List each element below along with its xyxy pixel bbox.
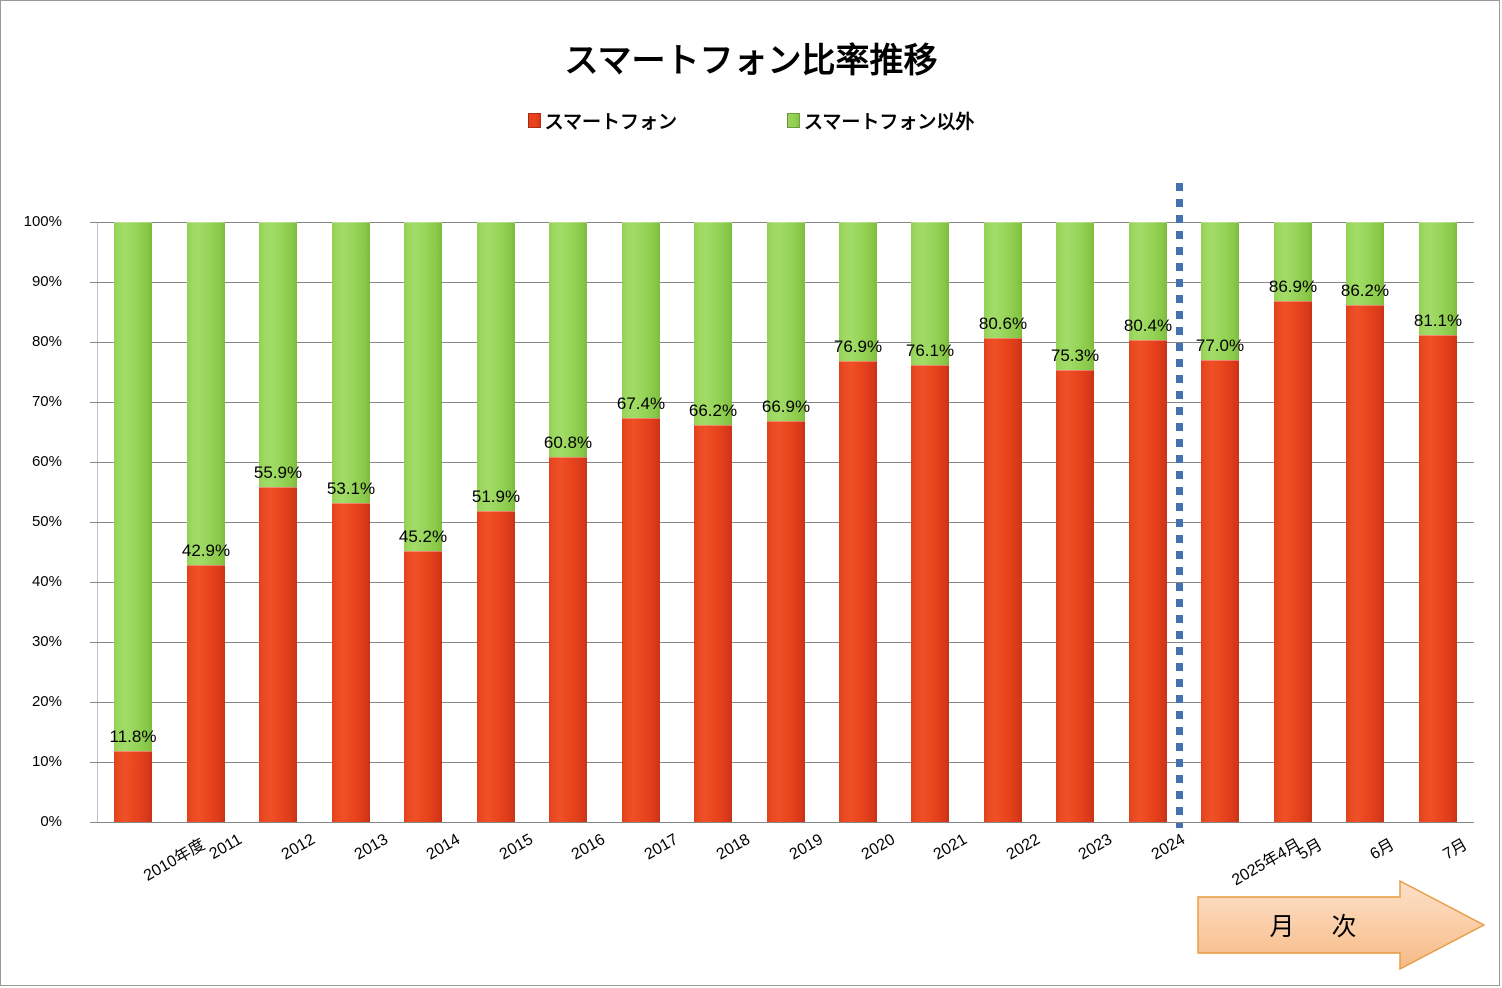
x-axis-tick-label: 2011 — [207, 831, 246, 864]
legend-item-non-smartphone[interactable]: スマートフォン以外 — [787, 107, 974, 134]
x-axis-tick-label: 2023 — [1076, 831, 1116, 864]
y-tick-mark — [90, 402, 97, 403]
y-tick-mark — [90, 342, 97, 343]
y-axis-tick-label: 80% — [2, 333, 62, 350]
x-axis-tick-label: 2010年度 — [138, 831, 209, 886]
y-tick-mark — [90, 702, 97, 703]
chart-frame: スマートフォン比率推移 スマートフォン スマートフォン以外 11.8%42.9%… — [0, 0, 1500, 986]
y-axis-tick-label: 40% — [2, 573, 62, 590]
x-axis-tick-label: 2012 — [279, 831, 319, 864]
legend-swatch-smartphone-icon — [528, 113, 541, 128]
x-axis-tick-label: 2019 — [787, 831, 827, 864]
fiscal-monthly-divider — [1176, 183, 1183, 828]
y-axis-tick-label: 30% — [2, 633, 62, 650]
y-axis-tick-label: 0% — [2, 813, 62, 830]
legend-label-non-smartphone: スマートフォン以外 — [804, 107, 974, 134]
legend-item-smartphone[interactable]: スマートフォン — [528, 107, 677, 134]
x-axis-tick-label: 2016 — [569, 831, 609, 864]
chart-legend: スマートフォン スマートフォン以外 — [1, 107, 1501, 134]
gridline — [97, 822, 1474, 823]
x-axis-tick-label: 2020 — [859, 831, 899, 864]
y-axis-labels: 0%10%20%30%40%50%60%70%80%90%100% — [97, 222, 1474, 822]
legend-swatch-non-smartphone-icon — [787, 113, 800, 128]
monthly-arrow-callout: 月 次 — [1196, 879, 1486, 971]
y-axis-tick-label: 10% — [2, 753, 62, 770]
y-axis-tick-label: 60% — [2, 453, 62, 470]
y-tick-mark — [90, 462, 97, 463]
y-axis-tick-label: 70% — [2, 393, 62, 410]
x-axis-tick-label: 2021 — [931, 831, 971, 864]
legend-label-smartphone: スマートフォン — [545, 107, 677, 134]
x-axis-tick-label: 2024 — [1149, 831, 1189, 864]
x-axis-tick-label: 2014 — [424, 831, 464, 864]
y-tick-mark — [90, 762, 97, 763]
x-axis-tick-label: 2013 — [352, 831, 392, 864]
y-axis-tick-label: 90% — [2, 273, 62, 290]
y-axis-tick-label: 20% — [2, 693, 62, 710]
x-axis-tick-label: 2018 — [714, 831, 754, 864]
y-tick-mark — [90, 822, 97, 823]
y-tick-mark — [90, 582, 97, 583]
x-axis-tick-label: 2017 — [642, 831, 682, 864]
y-axis-tick-label: 100% — [2, 213, 62, 230]
y-tick-mark — [90, 522, 97, 523]
monthly-arrow-label: 月 次 — [1196, 907, 1436, 943]
chart-title: スマートフォン比率推移 — [1, 33, 1501, 82]
y-tick-mark — [90, 222, 97, 223]
x-axis-tick-label: 7月 — [1437, 831, 1471, 864]
y-tick-mark — [90, 642, 97, 643]
x-axis-tick-label: 5月 — [1292, 831, 1326, 864]
x-axis-tick-label: 6月 — [1364, 831, 1398, 864]
x-axis-tick-label: 2015 — [497, 831, 537, 864]
y-axis-tick-label: 50% — [2, 513, 62, 530]
y-tick-mark — [90, 282, 97, 283]
x-axis-tick-label: 2022 — [1004, 831, 1044, 864]
